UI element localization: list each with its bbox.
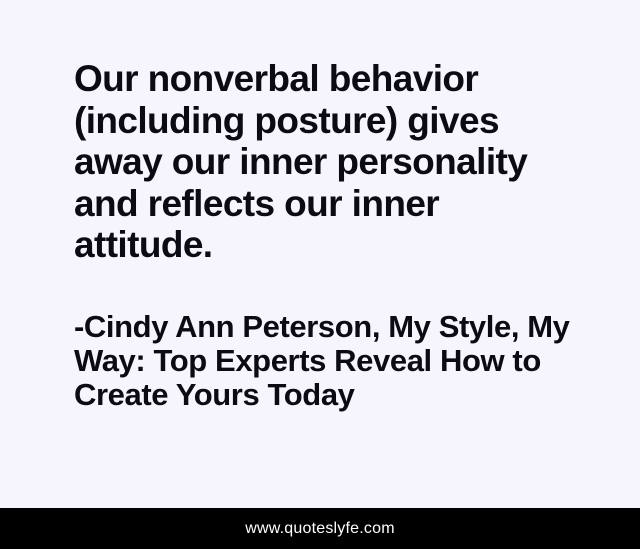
- quote-card-body: Our nonverbal behavior (including postur…: [0, 0, 640, 508]
- footer-website-url[interactable]: www.quoteslyfe.com: [245, 520, 394, 538]
- quote-text: Our nonverbal behavior (including postur…: [74, 58, 578, 266]
- quote-attribution: -Cindy Ann Peterson, My Style, My Way: T…: [74, 310, 578, 412]
- footer-bar: www.quoteslyfe.com: [0, 508, 640, 549]
- quote-card: Our nonverbal behavior (including postur…: [0, 0, 640, 549]
